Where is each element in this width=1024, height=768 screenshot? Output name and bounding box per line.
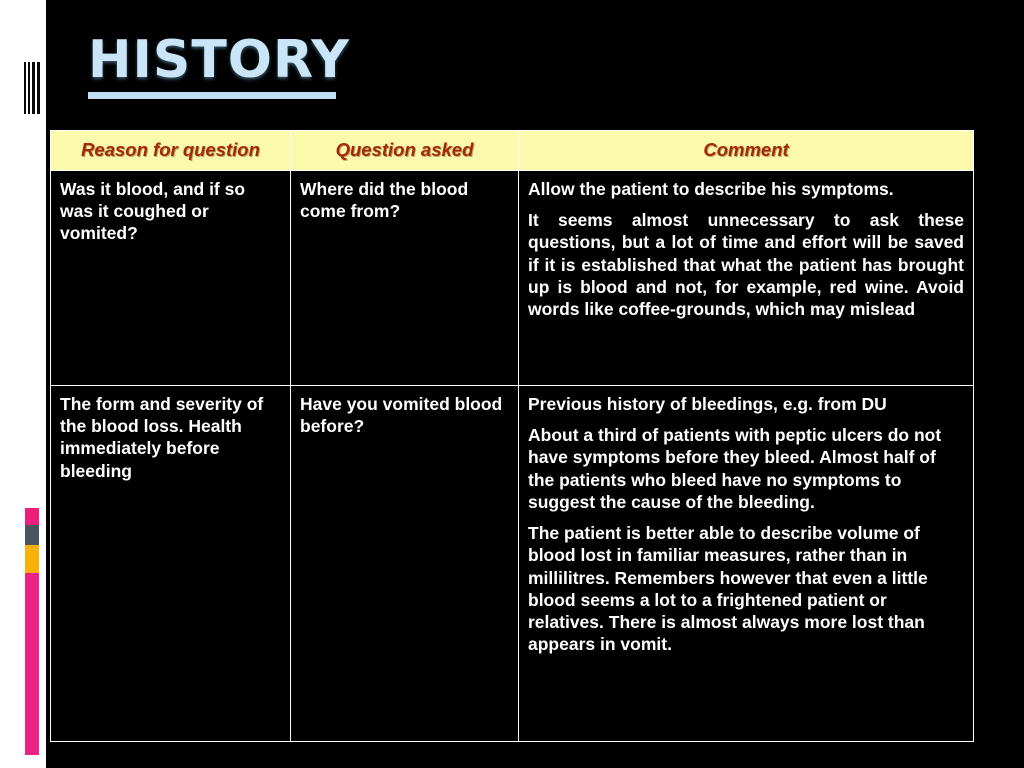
color-chip-magenta (25, 508, 39, 525)
cell-question: Where did the blood come from? (291, 171, 519, 386)
barcode-stripe (37, 62, 40, 114)
column-header-question: Question asked (291, 131, 519, 171)
barcode-stripe (32, 62, 35, 114)
table-body: Was it blood, and if so was it coughed o… (51, 171, 974, 742)
cell-question: Have you vomited blood before? (291, 386, 519, 742)
comment-paragraph: It seems almost unnecessary to ask these… (528, 209, 964, 320)
table-row: The form and severity of the blood loss.… (51, 386, 974, 742)
column-header-comment: Comment (519, 131, 974, 171)
column-header-reason: Reason for question (51, 131, 291, 171)
slide-canvas: HISTORY Reason for question Question ask… (0, 0, 1024, 768)
color-chip-magenta-long (25, 573, 39, 755)
cell-reason: The form and severity of the blood loss.… (51, 386, 291, 742)
comment-paragraph: Allow the patient to describe his sympto… (528, 178, 964, 200)
comment-paragraph: The patient is better able to describe v… (528, 522, 964, 655)
cell-comment: Previous history of bleedings, e.g. from… (519, 386, 974, 742)
page-title: HISTORY (88, 34, 350, 86)
table-header: Reason for question Question asked Comme… (51, 131, 974, 171)
color-chip-slate (25, 525, 39, 545)
title-underline-rule (88, 92, 336, 99)
cell-reason: Was it blood, and if so was it coughed o… (51, 171, 291, 386)
barcode-stripes-icon (24, 62, 40, 114)
table-header-row: Reason for question Question asked Comme… (51, 131, 974, 171)
color-chip-stack (25, 508, 39, 755)
comment-paragraph: Previous history of bleedings, e.g. from… (528, 393, 964, 415)
color-chip-gold (25, 545, 39, 573)
cell-comment: Allow the patient to describe his sympto… (519, 171, 974, 386)
barcode-stripe (28, 62, 30, 114)
left-decorative-rail (0, 0, 46, 768)
table-row: Was it blood, and if so was it coughed o… (51, 171, 974, 386)
history-questions-table: Reason for question Question asked Comme… (50, 130, 974, 742)
comment-paragraph: About a third of patients with peptic ul… (528, 424, 964, 513)
title-block: HISTORY (88, 34, 350, 99)
barcode-stripe (24, 62, 26, 114)
